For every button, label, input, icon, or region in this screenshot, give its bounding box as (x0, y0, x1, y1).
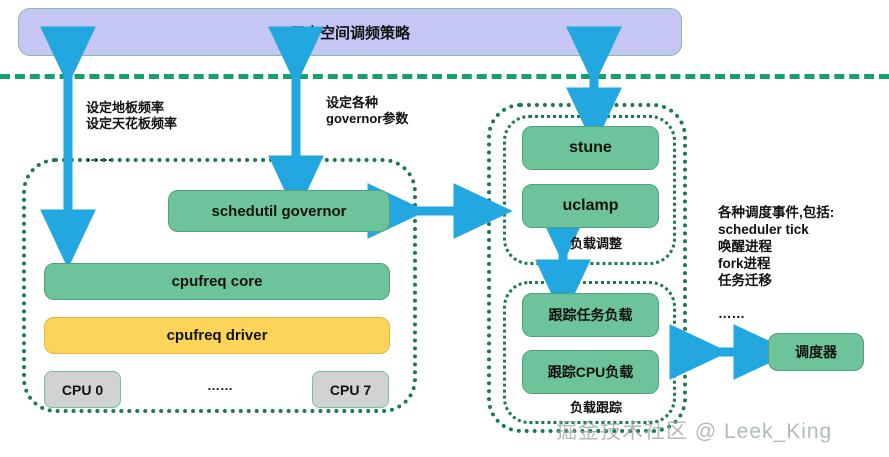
stune-label: stune (569, 139, 612, 157)
diagram-canvas: 用户空间调频策略 schedutil governor cpufreq core (0, 0, 889, 457)
userspace-policy-banner: 用户空间调频策略 (18, 8, 682, 56)
scheduler-events-annotation: 各种调度事件,包括: scheduler tick 唤醒进程 fork进程 任务… (718, 205, 834, 323)
user-kernel-divider (0, 74, 889, 79)
scheduler-label: 调度器 (795, 342, 837, 362)
floor-ceiling-annotation: 设定地板频率 设定天花板频率 …… (86, 100, 177, 165)
schedutil-governor-box: schedutil governor (168, 190, 390, 232)
governor-params-annotation: 设定各种 governor参数 (326, 95, 408, 128)
cpufreq-core-box: cpufreq core (44, 263, 390, 300)
cpufreq-driver-label: cpufreq driver (167, 327, 268, 344)
track-task-load-label: 跟踪任务负载 (549, 305, 633, 325)
load-trace-annotation: 负载跟踪 (570, 400, 622, 416)
uclamp-box: uclamp (522, 184, 659, 228)
cpu7-label: CPU 7 (330, 382, 371, 398)
cpu7-box: CPU 7 (312, 371, 389, 408)
load-adjust-annotation: 负载调整 (570, 236, 622, 252)
cpu0-box: CPU 0 (44, 371, 121, 408)
stune-box: stune (522, 126, 659, 170)
track-cpu-load-label: 跟踪CPU负载 (548, 362, 634, 382)
uclamp-label: uclamp (562, 197, 618, 215)
cpufreq-core-label: cpufreq core (172, 273, 263, 290)
track-cpu-load-box: 跟踪CPU负载 (522, 350, 659, 394)
cpufreq-driver-box: cpufreq driver (44, 317, 390, 354)
track-task-load-box: 跟踪任务负载 (522, 293, 659, 337)
schedutil-governor-label: schedutil governor (211, 203, 346, 220)
cpu-ellipsis: …… (190, 378, 250, 393)
watermark-text: 掘金技术社区 @ Leek_King (556, 415, 832, 445)
scheduler-box: 调度器 (768, 333, 864, 371)
userspace-policy-label: 用户空间调频策略 (290, 22, 410, 43)
cpu0-label: CPU 0 (62, 382, 103, 398)
